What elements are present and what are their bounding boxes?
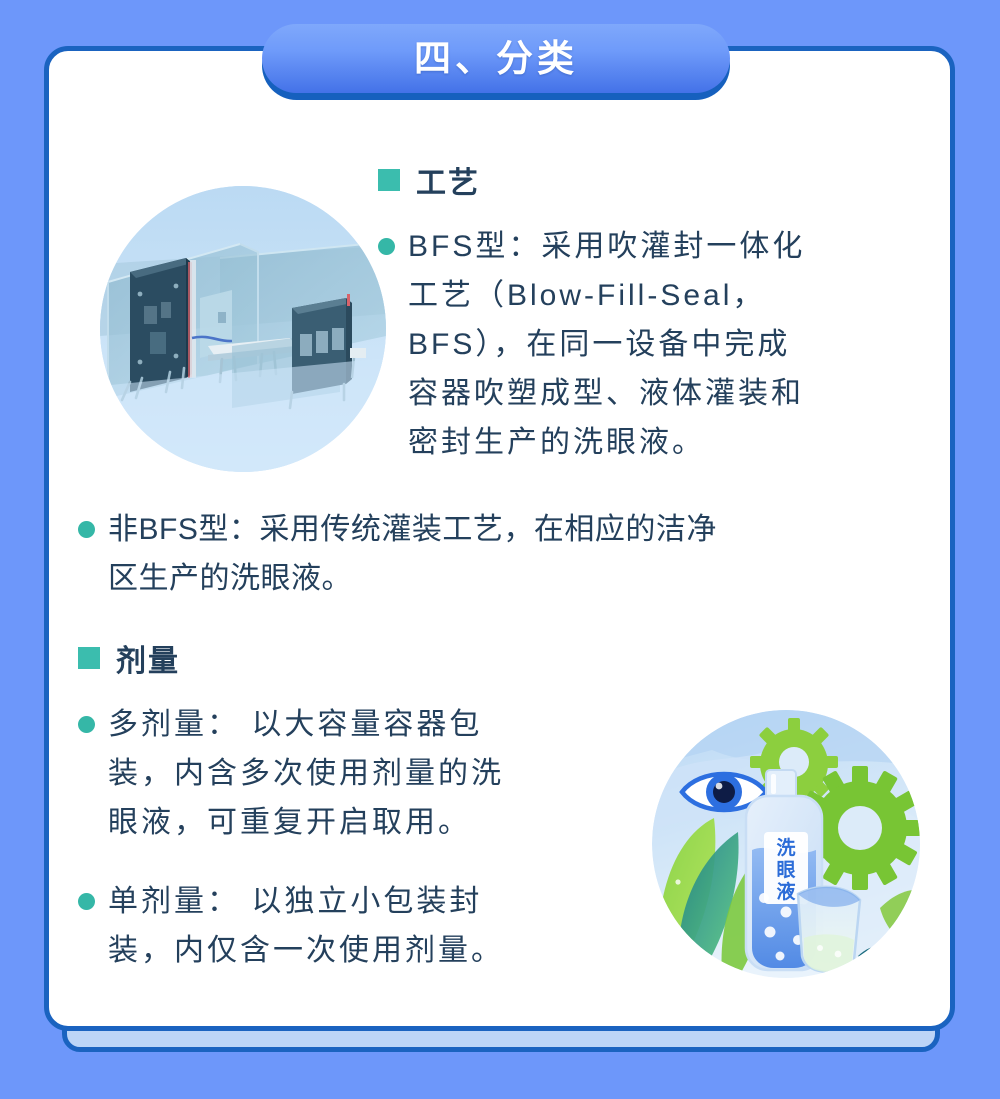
section-heading-label: 工艺 bbox=[416, 158, 480, 202]
infographic-page: 四、分类 bbox=[0, 0, 1000, 1099]
svg-text:眼: 眼 bbox=[776, 859, 795, 881]
dot-bullet-icon bbox=[78, 893, 95, 910]
list-item-text: 单剂量： 以独立小包装封 装，内仅含一次使用剂量。 bbox=[108, 877, 504, 975]
section-heading-craft: 工艺 bbox=[378, 158, 480, 202]
list-item-text: BFS型：采用吹灌封一体化 工艺（Blow-Fill-Seal， BFS），在同… bbox=[408, 222, 805, 467]
dot-bullet-icon bbox=[78, 716, 95, 733]
square-bullet-icon bbox=[78, 647, 100, 669]
list-item-text: 多剂量： 以大容量容器包 装，内含多次使用剂量的洗 眼液，可重复开启取用。 bbox=[108, 700, 504, 847]
square-bullet-icon bbox=[378, 169, 400, 191]
list-item: 多剂量： 以大容量容器包 装，内含多次使用剂量的洗 眼液，可重复开启取用。 bbox=[78, 700, 623, 847]
svg-text:液: 液 bbox=[776, 880, 796, 903]
svg-text:洗: 洗 bbox=[776, 836, 795, 859]
dot-bullet-icon bbox=[378, 238, 395, 255]
section-heading-label: 剂量 bbox=[116, 636, 180, 680]
dot-bullet-icon bbox=[78, 521, 95, 538]
cleanroom-photo bbox=[100, 186, 386, 472]
section-heading-dose: 剂量 bbox=[78, 636, 180, 680]
eyewash-bottle-illustration: 洗 眼 液 bbox=[652, 710, 920, 978]
list-item: 非BFS型：采用传统灌装工艺，在相应的洁净 区生产的洗眼液。 bbox=[78, 505, 943, 603]
content-area: 洗 眼 液 工艺 BFS型：采用吹灌封一体化 工艺（Blow-Fill-Sea bbox=[0, 0, 1000, 1099]
list-item-text: 非BFS型：采用传统灌装工艺，在相应的洁净 区生产的洗眼液。 bbox=[108, 505, 717, 603]
list-item: 单剂量： 以独立小包装封 装，内仅含一次使用剂量。 bbox=[78, 877, 623, 975]
list-item: BFS型：采用吹灌封一体化 工艺（Blow-Fill-Seal， BFS），在同… bbox=[378, 222, 918, 467]
